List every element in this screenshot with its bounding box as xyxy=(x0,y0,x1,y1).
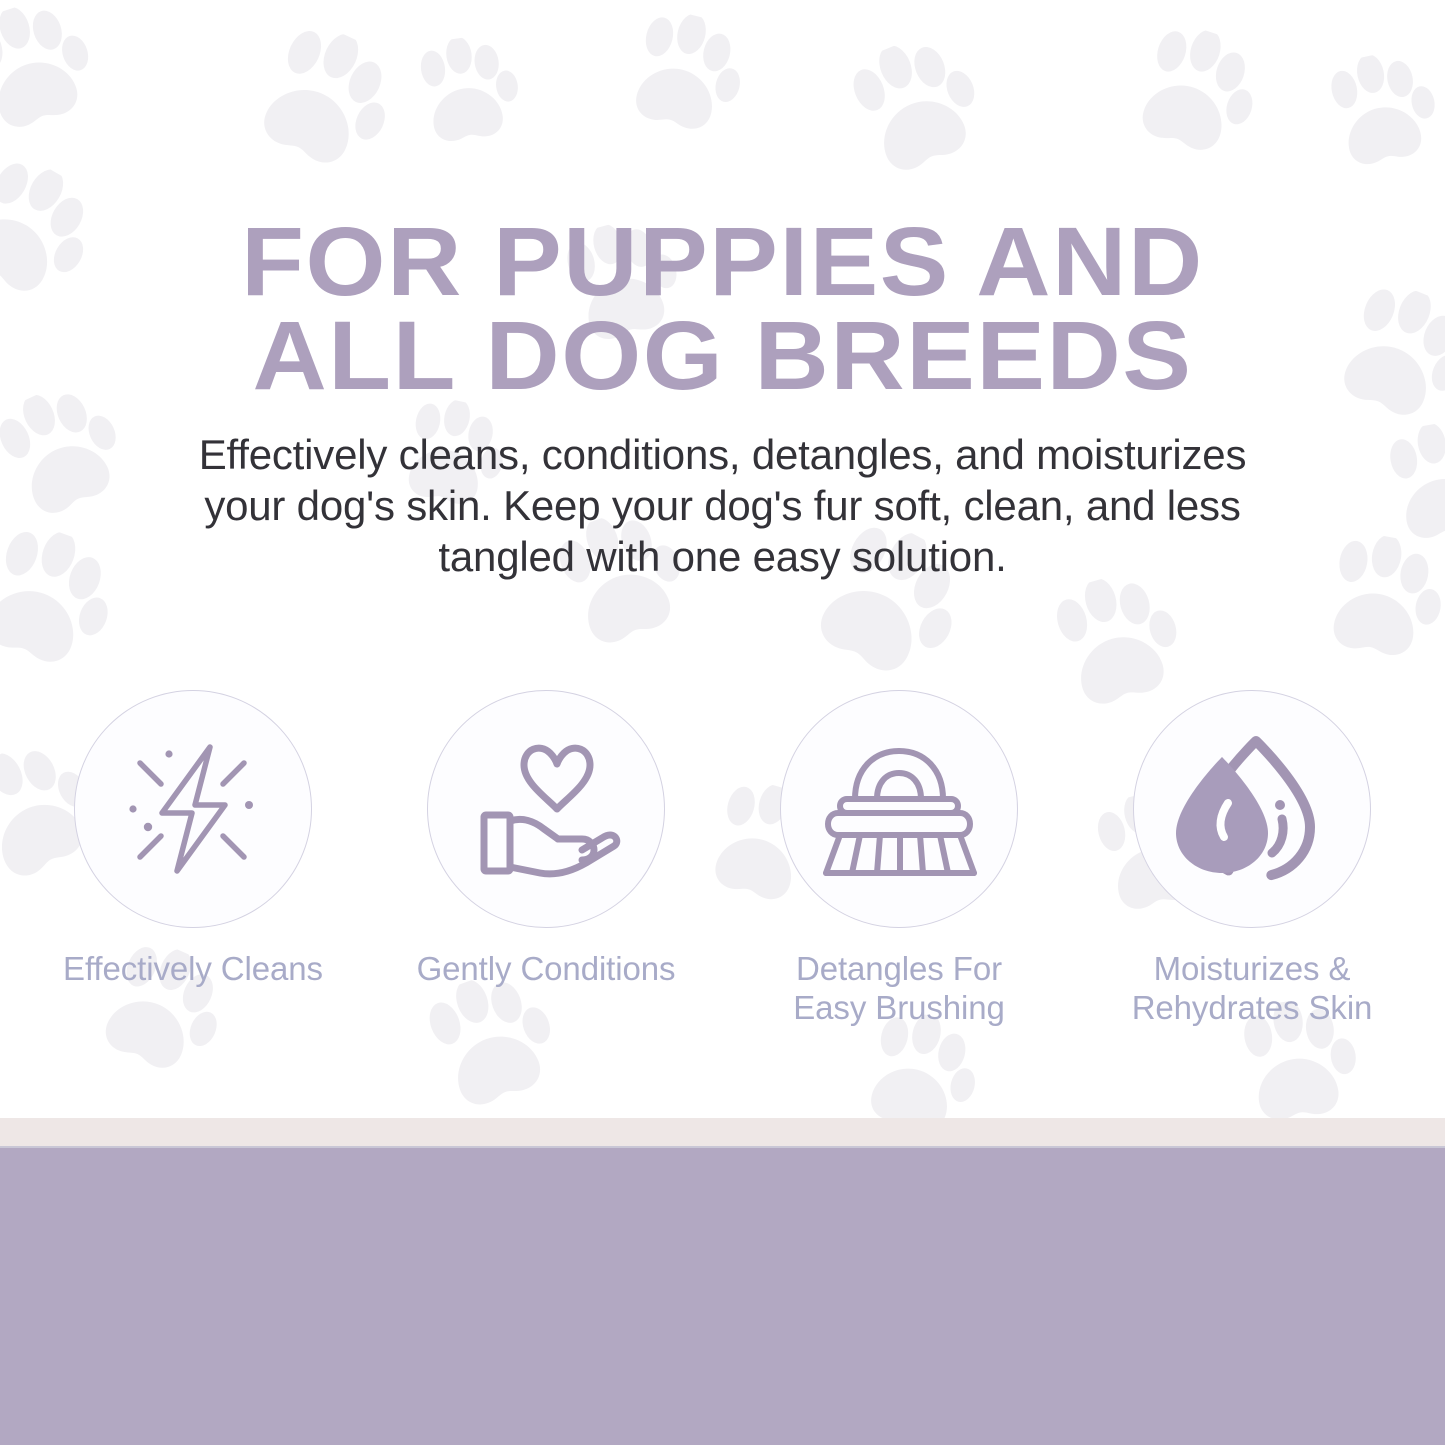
water-droplets-icon xyxy=(1170,727,1334,891)
paw-print-icon xyxy=(1103,11,1277,185)
paw-print-icon xyxy=(821,21,1008,208)
paw-print-icon xyxy=(397,30,533,166)
feature-item-effectively-cleans: Effectively Cleans xyxy=(28,690,358,1028)
cream-divider-band xyxy=(0,1118,1445,1148)
feature-item-gently-conditions: Gently Conditions xyxy=(381,690,711,1028)
feature-icon-badge xyxy=(74,690,312,928)
feature-list: Effectively Cleans G xyxy=(0,690,1445,1028)
hand-holding-heart-icon xyxy=(462,729,630,889)
feature-icon-badge xyxy=(780,690,1018,928)
feature-item-moisturizes: Moisturizes & Rehydrates Skin xyxy=(1087,690,1417,1028)
feature-icon-badge xyxy=(1133,690,1371,928)
paw-print-icon xyxy=(1305,43,1445,192)
page-description: Effectively cleans, conditions, detangle… xyxy=(30,430,1415,582)
purple-footer-band xyxy=(0,1148,1445,1445)
paw-print-icon xyxy=(0,0,117,162)
feature-label: Detangles For Easy Brushing xyxy=(793,950,1004,1028)
paw-print-icon xyxy=(218,5,417,204)
feature-item-detangles: Detangles For Easy Brushing xyxy=(734,690,1064,1028)
product-feature-banner: FOR PUPPIES AND ALL DOG BREEDS Effective… xyxy=(0,0,1445,1445)
paw-print-icon xyxy=(600,0,760,160)
page-title: FOR PUPPIES AND ALL DOG BREEDS xyxy=(0,215,1445,403)
feature-label: Moisturizes & Rehydrates Skin xyxy=(1132,950,1373,1028)
feature-label: Gently Conditions xyxy=(417,950,676,989)
grooming-brush-icon xyxy=(814,729,984,889)
lightning-sparkle-icon xyxy=(113,729,273,889)
feature-label: Effectively Cleans xyxy=(63,950,323,989)
feature-icon-badge xyxy=(427,690,665,928)
